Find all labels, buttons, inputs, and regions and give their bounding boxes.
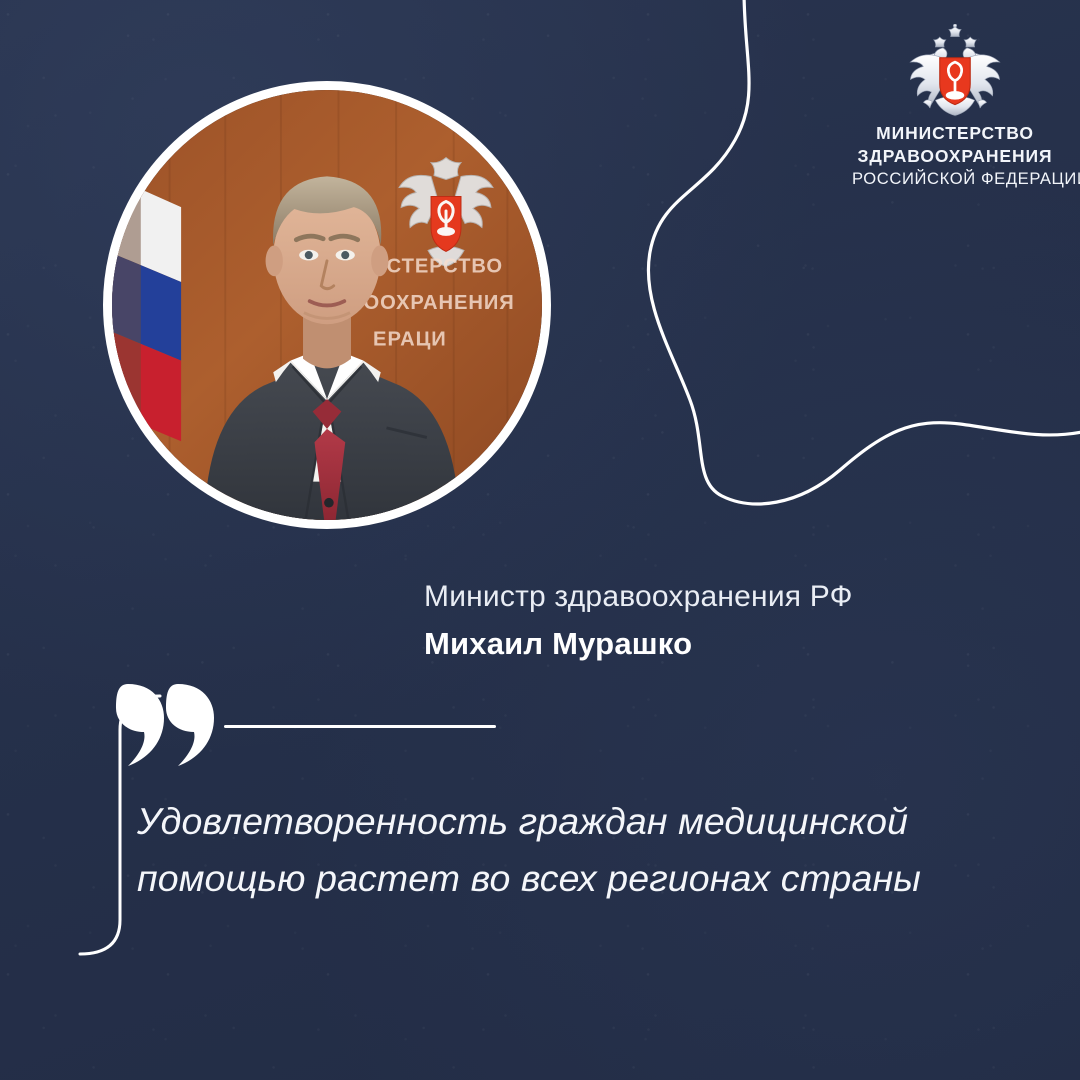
speaker-role: Министр здравоохранения РФ <box>424 578 1024 616</box>
quote-text: Удовлетворенность граждан медицинской по… <box>137 793 1017 907</box>
quote-divider-rule <box>224 725 496 728</box>
avatar: ИСТЕРСТВО ООХРАНЕНИЯ ЕРАЦИ <box>103 81 551 529</box>
quote-card: ИСТЕРСТВО ООХРАНЕНИЯ ЕРАЦИ <box>0 0 1080 1080</box>
russian-health-ministry-emblem-icon <box>900 24 1010 122</box>
ministry-logo: МИНИСТЕРСТВО ЗДРАВООХРАНЕНИЯ РОССИЙСКОЙ … <box>852 24 1058 189</box>
svg-text:ЕРАЦИ: ЕРАЦИ <box>373 328 447 350</box>
logo-line-2: ЗДРАВООХРАНЕНИЯ <box>852 145 1058 168</box>
speaker-name: Михаил Мурашко <box>424 625 1024 664</box>
attribution: Министр здравоохранения РФ Михаил Мурашк… <box>424 578 1024 663</box>
logo-line-3: РОССИЙСКОЙ ФЕДЕРАЦИИ <box>852 168 1058 190</box>
svg-text:ИСТЕРСТВО: ИСТЕРСТВО <box>371 255 503 277</box>
quote-mark-icon <box>112 682 216 768</box>
logo-line-1: МИНИСТЕРСТВО <box>852 122 1058 145</box>
portrait-photo: ИСТЕРСТВО ООХРАНЕНИЯ ЕРАЦИ <box>112 90 542 520</box>
svg-text:ООХРАНЕНИЯ: ООХРАНЕНИЯ <box>363 292 514 314</box>
